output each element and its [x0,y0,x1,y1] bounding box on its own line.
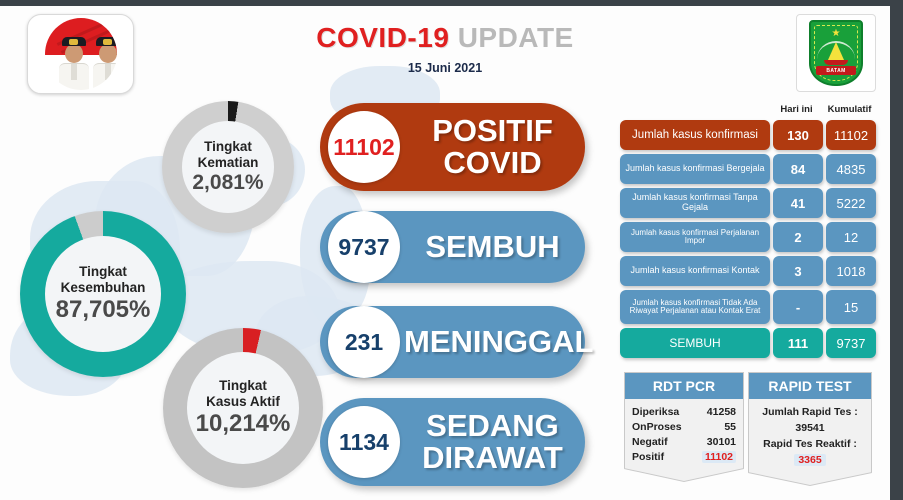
title-covid19: COVID-19 [316,22,449,53]
row-today: 84 [773,154,823,184]
panel-body-rapid: Jumlah Rapid Tes : 39541 Rapid Tes Reakt… [748,399,872,473]
table-row[interactable]: Jumlah kasus konfirmasi 130 11102 [620,120,876,150]
rapid-total-value: 39541 [756,420,864,436]
donut-center: Tingkat Kasus Aktif 10,214% [187,352,299,464]
row-label: Jumlah kasus konfirmasi Tanpa Gejala [620,188,770,218]
panel-row: Negatif 30101 [632,434,736,449]
donut-tingkat-kasus-aktif: Tingkat Kasus Aktif 10,214% [163,328,323,488]
donut-value: 10,214% [196,410,291,438]
row-cumulative: 1018 [826,256,876,286]
report-date: 15 Juni 2021 [0,61,890,75]
window-right-chrome [890,0,903,500]
donut-value: 87,705% [56,296,151,324]
stat-label-dirawat: SEDANG DIRAWAT [400,410,585,474]
table-row[interactable]: SEMBUH 111 9737 [620,328,876,358]
panel-row-value: 30101 [707,436,736,448]
slide-root: ★ BATAM COVID-19 UPDATE 15 Juni 2021 Tin… [0,0,903,500]
column-header-kumulatif: Kumulatif [823,104,876,120]
case-breakdown-table: Hari ini Kumulatif Jumlah kasus konfirma… [620,104,876,362]
row-cumulative: 5222 [826,188,876,218]
panel-row: OnProses 55 [632,419,736,434]
stat-label-meninggal: MENINGGAL [400,326,597,358]
panel-row-label: OnProses [632,421,682,433]
panel-rapid-test: RAPID TEST Jumlah Rapid Tes : 39541 Rapi… [748,372,872,473]
donut-tingkat-kesembuhan: Tingkat Kesembuhan 87,705% [20,211,186,377]
row-today: 111 [773,328,823,358]
title-update: UPDATE [458,22,574,53]
donut-center: Tingkat Kematian 2,081% [182,121,274,213]
rapid-reactive-value-wrap: 3365 [756,452,864,468]
row-label: Jumlah kasus konfirmasi Perjalanan Impor [620,222,770,252]
panel-title-rapid: RAPID TEST [748,372,872,399]
panel-row-value: 55 [724,421,736,433]
stat-value-meninggal: 231 [328,306,400,378]
donut-center: Tingkat Kesembuhan 87,705% [45,236,161,352]
donut-label-line2: Kesembuhan [61,280,146,295]
stat-label-positif: POSITIF COVID [400,115,585,179]
table-header-row: Hari ini Kumulatif [770,104,876,120]
row-cumulative: 9737 [826,328,876,358]
table-row[interactable]: Jumlah kasus konfirmasi Tidak Ada Riwaya… [620,290,876,324]
table-row[interactable]: Jumlah kasus konfirmasi Bergejala 84 483… [620,154,876,184]
row-label: Jumlah kasus konfirmasi Tidak Ada Riwaya… [620,290,770,324]
panel-row-value-highlight: 11102 [702,451,736,463]
table-row[interactable]: Jumlah kasus konfirmasi Tanpa Gejala 41 … [620,188,876,218]
row-today: - [773,290,823,324]
rapid-total-label: Jumlah Rapid Tes : [756,404,864,420]
panel-title-rdt: RDT PCR [624,372,744,399]
row-cumulative: 15 [826,290,876,324]
donut-label-line1: Tingkat [219,378,267,393]
donut-value: 2,081% [192,171,263,195]
row-today: 2 [773,222,823,252]
row-today: 130 [773,120,823,150]
stat-value-dirawat: 1134 [328,406,400,478]
panel-row-label: Positif [632,451,664,463]
row-label: SEMBUH [620,328,770,358]
donut-label-line2: Kematian [198,155,259,170]
table-row[interactable]: Jumlah kasus konfirmasi Kontak 3 1018 [620,256,876,286]
column-header-hari-ini: Hari ini [770,104,823,120]
stat-pill-meninggal[interactable]: 231 MENINGGAL [320,306,585,378]
row-cumulative: 4835 [826,154,876,184]
slide-canvas: ★ BATAM COVID-19 UPDATE 15 Juni 2021 Tin… [0,6,890,500]
panel-rdt-pcr: RDT PCR Diperiksa 41258 OnProses 55 Nega… [624,372,744,469]
donut-label-line1: Tingkat [79,264,127,279]
table-row[interactable]: Jumlah kasus konfirmasi Perjalanan Impor… [620,222,876,252]
panel-row: Positif 11102 [632,449,736,464]
row-label: Jumlah kasus konfirmasi Bergejala [620,154,770,184]
row-today: 41 [773,188,823,218]
donut-label-line2: Kasus Aktif [206,394,280,409]
rapid-reactive-label: Rapid Tes Reaktif : [756,436,864,452]
stat-pill-sedang-dirawat[interactable]: 1134 SEDANG DIRAWAT [320,398,585,486]
stat-pill-sembuh[interactable]: 9737 SEMBUH [320,211,585,283]
row-cumulative: 12 [826,222,876,252]
row-label: Jumlah kasus konfirmasi [620,120,770,150]
stat-value-positif: 11102 [328,111,400,183]
donut-label-line1: Tingkat [204,139,252,154]
stat-label-sembuh: SEMBUH [400,231,585,263]
panel-row-label: Diperiksa [632,406,679,418]
panel-body-rdt: Diperiksa 41258 OnProses 55 Negatif 3010… [624,399,744,469]
page-title: COVID-19 UPDATE [0,22,890,54]
row-cumulative: 11102 [826,120,876,150]
row-label: Jumlah kasus konfirmasi Kontak [620,256,770,286]
donut-tingkat-kematian: Tingkat Kematian 2,081% [162,101,294,233]
panel-row-value: 41258 [707,406,736,418]
stat-pill-positif-covid[interactable]: 11102 POSITIF COVID [320,103,585,191]
stat-value-sembuh: 9737 [328,211,400,283]
row-today: 3 [773,256,823,286]
panel-row-label: Negatif [632,436,668,448]
panel-row: Diperiksa 41258 [632,404,736,419]
rapid-reactive-value: 3365 [794,454,825,466]
